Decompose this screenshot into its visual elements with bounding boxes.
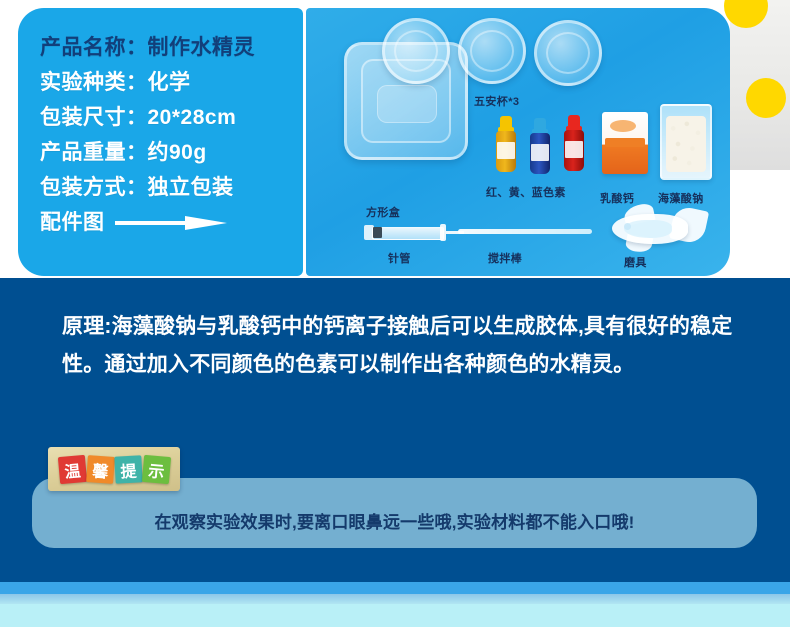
info-row-weight: 产品重量：约90g	[40, 135, 303, 170]
product-detail-page: 产品名称：制作水精灵 实验种类：化学 包装尺寸：20*28cm 产品重量：约90…	[0, 0, 790, 627]
info-label-weight: 产品重量：	[40, 141, 148, 164]
principle-body-text: 海藻酸钠与乳酸钙中的钙离子接触后可以生成胶体,具有很好的稳定性。通过加入不同颜色…	[62, 315, 732, 376]
badge-char-tile: 馨	[86, 455, 115, 484]
dye-bottle-yellow-item	[496, 116, 516, 172]
info-row-experiment-type: 实验种类：化学	[40, 65, 303, 100]
principle-paragraph: 原理:海藻酸钠与乳酸钙中的钙离子接触后可以生成胶体,具有很好的稳定性。通过加入不…	[62, 308, 742, 384]
badge-char-tile: 示	[141, 454, 170, 483]
info-label-package-method: 包装方式：	[40, 176, 148, 199]
accessory-photo-card: 方形盒 五安杯*3 红、黄、蓝色素 乳酸钙 海藻酸钠 针管 搅拌棒	[306, 8, 730, 276]
accessory-diagram-row: 配件图	[40, 205, 303, 240]
principle-key-label: 原理:	[62, 315, 112, 338]
info-value-experiment-type: 化学	[148, 71, 191, 94]
badge-char-tile: 提	[114, 455, 142, 483]
info-value-weight: 约90g	[148, 141, 207, 164]
badge-char-tile: 温	[57, 454, 86, 483]
decor-yellow-dot-icon	[746, 78, 786, 118]
photo-label-cups: 五安杯*3	[474, 93, 519, 109]
dye-bottle-blue-item	[530, 118, 550, 174]
measuring-cup-item	[458, 18, 526, 84]
dye-bottle-red-item	[564, 115, 584, 171]
photo-label-stir-stick: 搅拌棒	[488, 250, 522, 266]
info-label-product-name: 产品名称：	[40, 36, 148, 59]
bottom-band-blue	[0, 582, 790, 594]
photo-label-square-box: 方形盒	[366, 204, 400, 220]
bottom-band-cyan	[0, 604, 790, 627]
stir-stick-item	[458, 229, 592, 234]
product-info-card: 产品名称：制作水精灵 实验种类：化学 包装尺寸：20*28cm 产品重量：约90…	[18, 8, 303, 276]
accessory-diagram-label: 配件图	[40, 205, 105, 240]
info-row-package-size: 包装尺寸：20*28cm	[40, 100, 303, 135]
syringe-item	[364, 224, 462, 240]
photo-label-dyes: 红、黄、蓝色素	[486, 184, 566, 200]
calcium-lactate-item	[602, 112, 648, 174]
warm-tips-badge: 温 馨 提 示	[48, 447, 180, 491]
photo-label-mold: 磨具	[624, 254, 647, 270]
measuring-cup-item	[382, 18, 450, 84]
dolphin-mold-item	[602, 204, 706, 256]
arrow-right-icon	[115, 216, 227, 230]
info-label-experiment-type: 实验种类：	[40, 71, 148, 94]
info-value-product-name: 制作水精灵	[148, 36, 256, 59]
info-row-package-method: 包装方式：独立包装	[40, 170, 303, 205]
info-value-package-method: 独立包装	[148, 176, 234, 199]
photo-label-syringe: 针管	[388, 250, 411, 266]
measuring-cup-item	[534, 20, 602, 86]
info-label-package-size: 包装尺寸：	[40, 106, 148, 129]
info-row-product-name: 产品名称：制作水精灵	[40, 30, 303, 65]
sodium-alginate-item	[660, 104, 712, 180]
info-value-package-size: 20*28cm	[148, 106, 237, 129]
